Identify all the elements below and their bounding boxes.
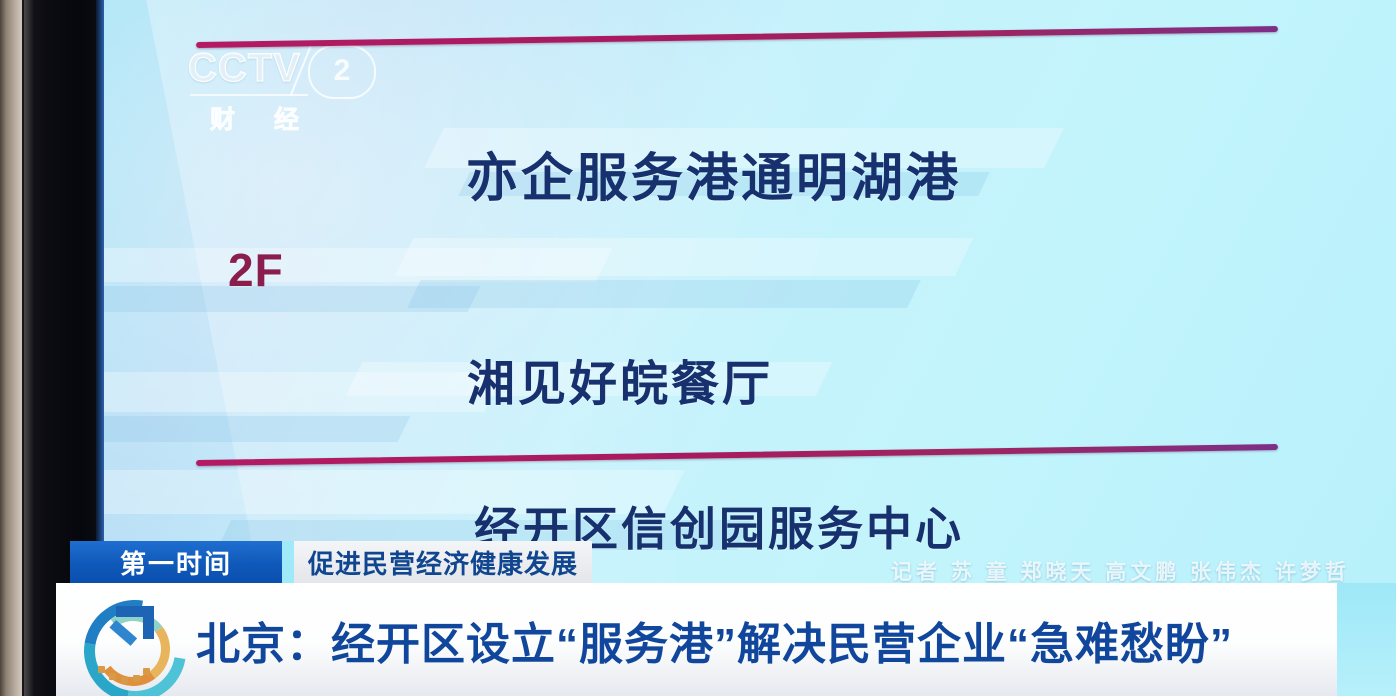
cctv-underline bbox=[190, 94, 308, 96]
cctv-channel-name: 财 经 bbox=[210, 100, 315, 136]
topic-badge: 促进民营经济健康发展 bbox=[294, 541, 592, 583]
chevron-band bbox=[395, 238, 974, 276]
chevron-band bbox=[104, 372, 504, 412]
bezel-sheen bbox=[24, 0, 34, 696]
chevron-band bbox=[407, 280, 921, 308]
program-brand-logo bbox=[78, 594, 170, 686]
ticker-gap bbox=[282, 541, 294, 583]
program-name-badge: 第一时间 bbox=[70, 541, 282, 583]
logo-arrow-icon bbox=[114, 606, 154, 646]
chevron-band bbox=[104, 416, 410, 442]
logo-mosaic-dots bbox=[96, 662, 152, 684]
broadcast-screenshot: CCTV 2 财 经 亦企服务港通明湖港 2F 湘见好皖餐厅 经开区信创园服务中… bbox=[0, 0, 1396, 696]
cctv-wordmark: CCTV bbox=[188, 48, 378, 88]
headline-bar: 北京：经开区设立“服务港”解决民营企业“急难愁盼” bbox=[56, 583, 1337, 696]
cctv-channel-logo: CCTV 2 财 经 bbox=[188, 48, 378, 132]
reporter-credits: 记者 苏 童 郑晓天 高文鹏 张伟杰 许梦哲 bbox=[891, 556, 1350, 586]
cctv-channel-number: 2 bbox=[308, 45, 376, 99]
sign-entry-1: 湘见好皖餐厅 bbox=[467, 344, 773, 414]
headline-text: 北京：经开区设立“服务港”解决民营企业“急难愁盼” bbox=[196, 608, 1233, 672]
lower-third-ticker: 第一时间 促进民营经济健康发展 bbox=[70, 541, 592, 583]
panel-right-edge bbox=[1337, 583, 1396, 696]
sign-entry-0: 亦企服务港通明湖港 bbox=[466, 136, 961, 211]
sign-divider-top bbox=[196, 26, 1278, 48]
chevron-band bbox=[104, 248, 612, 282]
chevron-band bbox=[104, 286, 480, 312]
cctv-slash bbox=[290, 44, 313, 97]
sign-floor-label: 2F bbox=[228, 243, 284, 297]
sign-divider-middle bbox=[196, 444, 1278, 466]
